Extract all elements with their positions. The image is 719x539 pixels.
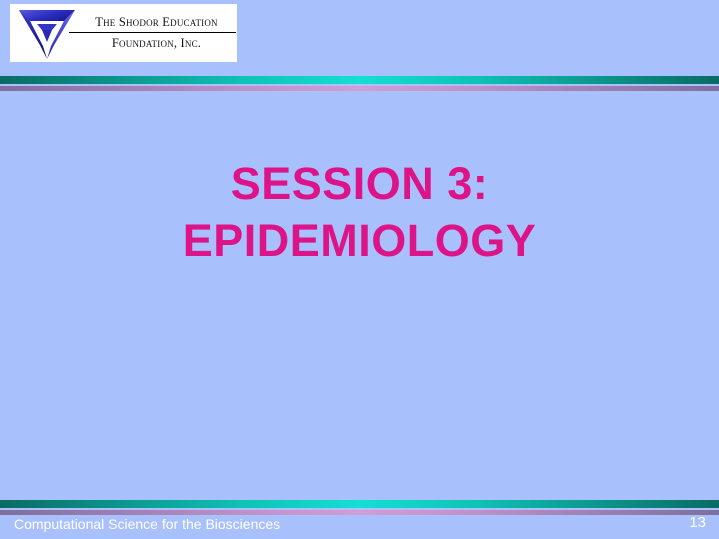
slide-canvas: The Shodor Education Foundation, Inc. SE… [0, 0, 719, 539]
bottom-teal-divider [0, 500, 719, 508]
footer-label: Computational Science for the Bioscience… [14, 515, 280, 533]
shodor-logo-box: The Shodor Education Foundation, Inc. [10, 4, 237, 62]
logo-text-line-2: Foundation, Inc. [112, 33, 201, 52]
slide-title: SESSION 3: EPIDEMIOLOGY [0, 155, 719, 269]
shodor-triangle-emblem-icon [16, 5, 78, 61]
top-teal-divider [0, 76, 719, 84]
top-purple-divider [0, 86, 719, 91]
slide-title-line-2: EPIDEMIOLOGY [0, 212, 719, 269]
slide-title-line-1: SESSION 3: [0, 155, 719, 212]
logo-text-line-1: The Shodor Education [95, 14, 217, 32]
shodor-logo-wordmark: The Shodor Education Foundation, Inc. [80, 6, 233, 60]
slide-page-number: 13 [689, 514, 706, 532]
